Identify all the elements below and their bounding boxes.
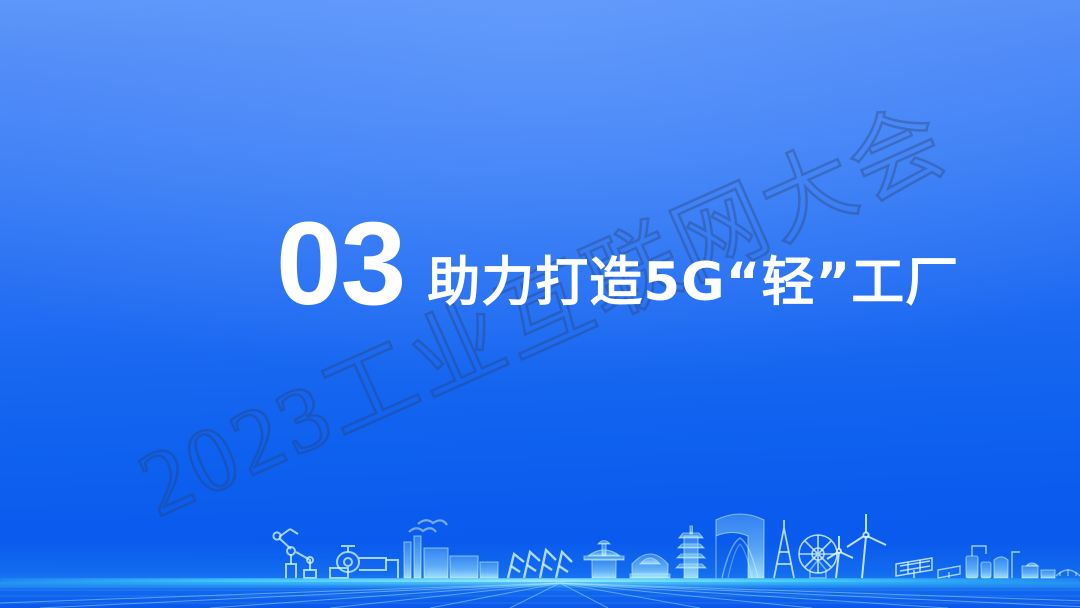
warehouse-row-icon (1022, 563, 1055, 578)
industrial-valve-icon (330, 546, 398, 578)
chemical-plant-tanks-icon (966, 546, 1020, 578)
gate-of-the-orient-icon (716, 514, 764, 578)
oil-pumpjacks-icon (508, 550, 572, 578)
lattice-tower-icon (774, 520, 794, 578)
chinese-pavilion-icon (584, 541, 624, 579)
ground-plane (0, 578, 1080, 608)
factory-smokestacks-icon (404, 520, 498, 578)
wind-turbine-icon (827, 514, 886, 578)
ferris-wheel-icon (799, 535, 837, 578)
dome-building-icon (630, 554, 670, 578)
skyline-illustration (0, 502, 1080, 582)
section-title: 助力打造5G“轻”工厂 (427, 256, 959, 315)
solar-panel-array-icon (896, 558, 960, 578)
pagoda-tower-icon (676, 526, 706, 578)
section-number: 03 (276, 214, 405, 315)
robot-arm-icon (273, 529, 316, 578)
slide-canvas: 2023工业互联网大会 03 助力打造5G“轻”工厂 (0, 0, 1080, 608)
headline-group: 03 助力打造5G“轻”工厂 (276, 214, 959, 315)
bridge-span-icon (1056, 569, 1080, 576)
